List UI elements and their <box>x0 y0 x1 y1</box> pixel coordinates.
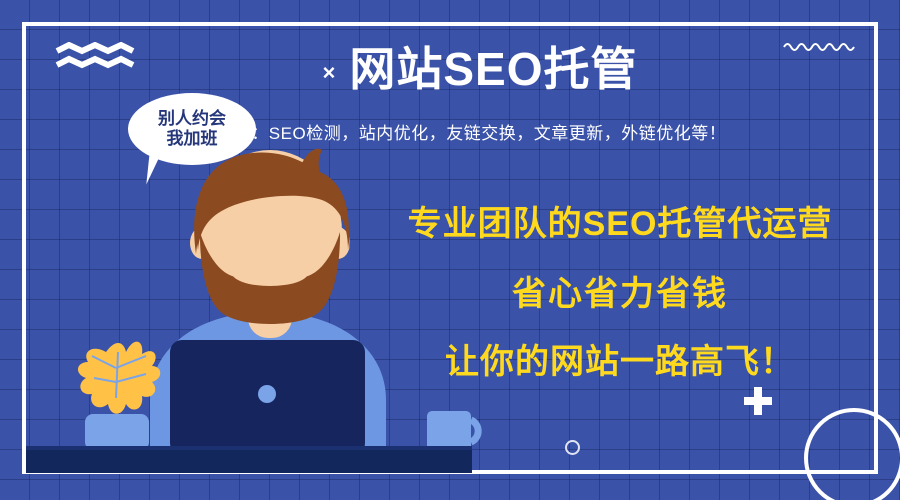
pitch-line-3: 让你的网站一路高飞！ <box>370 334 870 383</box>
pitch-line-1: 专业团队的SEO托管代运营 <box>370 196 870 245</box>
title-row: × 网站SEO托管 <box>0 45 900 93</box>
coffee-mug <box>427 411 478 451</box>
speech-bubble: 别人约会 我加班 <box>128 93 256 165</box>
plus-icon <box>744 387 772 415</box>
small-circle-icon <box>565 440 580 455</box>
x-mark-icon: × <box>322 62 335 84</box>
seo-promo-banner: 别人约会 我加班 × 网站SEO托管 含：SEO检测，站内优化，友链交换，文章更… <box>0 0 900 500</box>
page-title: 网站SEO托管 <box>349 45 637 93</box>
potted-plant <box>78 342 160 450</box>
speech-bubble-line-2: 我加班 <box>167 129 218 149</box>
desk <box>26 450 472 473</box>
pitch-line-2: 省心省力省钱 <box>370 266 870 315</box>
speech-bubble-line-1: 别人约会 <box>158 109 226 129</box>
speech-bubble-text: 别人约会 我加班 <box>128 93 256 165</box>
laptop <box>170 340 365 455</box>
